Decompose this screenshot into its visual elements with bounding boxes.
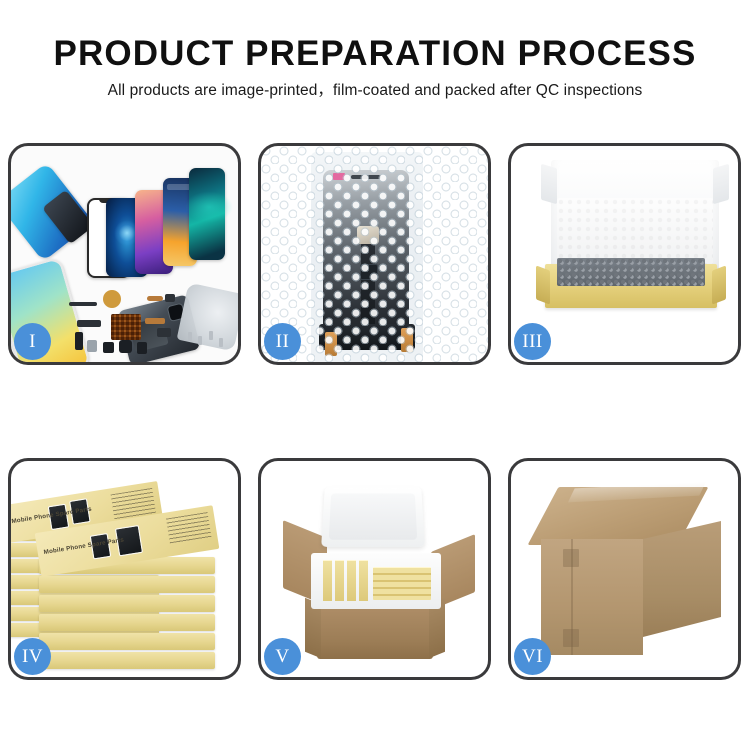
process-step-panel-5[interactable]: V: [258, 458, 491, 680]
printed-spec-lines: [166, 512, 212, 544]
step-badge-6: VI: [514, 638, 551, 675]
carton-flap-tab-lower: [563, 629, 579, 647]
packed-yellow-box: [335, 560, 344, 601]
screw: [209, 331, 213, 340]
screw: [188, 332, 192, 341]
carton-flap-tab-upper: [563, 549, 579, 567]
process-step-panel-4[interactable]: Mobile Phone Spare Parts Mobile Phone Sp…: [8, 458, 241, 680]
screw: [198, 336, 202, 345]
button-flex: [165, 294, 175, 302]
teal-gradient-phone: [189, 168, 225, 260]
screws-group: [186, 330, 232, 352]
charging-port: [157, 328, 171, 337]
packed-yellow-box: [347, 560, 356, 601]
stacked-box: [39, 633, 215, 650]
process-step-panel-3[interactable]: III: [508, 143, 741, 365]
copper-flex-cable: [147, 296, 163, 301]
process-step-panel-1[interactable]: I: [8, 143, 241, 365]
step-badge-4: IV: [14, 638, 51, 675]
camera-lens-part: [137, 342, 147, 354]
step-badge-1: I: [14, 323, 51, 360]
page-title: PRODUCT PREPARATION PROCESS: [0, 34, 750, 74]
stacked-box: [39, 576, 215, 593]
process-step-panel-2[interactable]: II: [258, 143, 491, 365]
page-subtitle: All products are image-printed，film-coat…: [0, 80, 750, 102]
stacked-box: [39, 595, 215, 612]
page-header: PRODUCT PREPARATION PROCESS All products…: [0, 0, 750, 102]
carton-front-face: [541, 539, 643, 655]
step-badge-2: II: [264, 323, 301, 360]
packed-yellow-box: [359, 560, 368, 601]
process-step-grid: I II III: [8, 143, 742, 680]
earpiece-mesh: [69, 302, 97, 306]
teal-swirl-highlight: [183, 190, 235, 224]
antistatic-bubble-contents: [557, 258, 705, 286]
packed-yellow-box-row: [373, 567, 431, 600]
small-ic: [103, 342, 114, 353]
sim-tray: [87, 340, 97, 352]
speaker-part: [103, 290, 121, 308]
ic-chip-grid: [111, 314, 141, 340]
screw: [219, 338, 223, 347]
carton-body: [317, 601, 433, 659]
carton-side-face: [643, 521, 721, 637]
foam-lid-inner: [329, 494, 417, 540]
process-step-panel-6[interactable]: VI: [508, 458, 741, 680]
step-badge-3: III: [514, 323, 551, 360]
foam-lid: [321, 487, 425, 547]
connector-strip: [77, 320, 101, 327]
step-badge-5: V: [264, 638, 301, 675]
spare-parts-cluster: [69, 288, 195, 362]
stacked-box: [39, 652, 215, 669]
packed-yellow-box: [323, 560, 332, 601]
antenna-flex: [145, 318, 165, 324]
vibration-motor: [119, 340, 132, 353]
box-brand-label: Mobile Phone Spare Parts: [43, 537, 124, 557]
stacked-box: [39, 614, 215, 631]
flex-ribbon: [75, 332, 83, 350]
